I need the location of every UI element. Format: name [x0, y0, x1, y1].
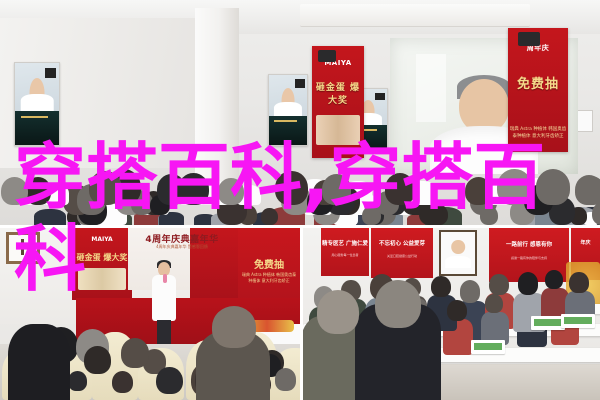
screen-speaker-face — [459, 79, 509, 133]
gift-box — [561, 314, 595, 328]
banner-headline: 砸金蛋 爆大奖 — [312, 80, 364, 106]
banner-free-draw-right: 周年庆 免费抽 瑞典 Astra 种植体 韩国奥齿泰种植体 意大利牙齿矫正 — [508, 28, 568, 152]
banner-headline: 免费抽 — [508, 73, 568, 92]
screen-shelf — [416, 54, 446, 122]
audience-head — [447, 300, 466, 321]
poster-chip — [295, 79, 305, 87]
foreground-attendee — [8, 324, 70, 400]
gift-box — [471, 340, 505, 354]
audience-head — [84, 346, 110, 374]
audience-head — [156, 367, 182, 395]
image-collage: MAIYA 砸金蛋 爆大奖 周年庆 免费抽 瑞典 Astra 种植体 韩国奥齿泰… — [0, 0, 600, 400]
audience-head — [68, 371, 87, 391]
gift-box — [531, 316, 565, 330]
audience-head — [212, 306, 256, 348]
audience-head — [275, 368, 296, 391]
speaker-box — [318, 50, 336, 62]
speaker-box — [518, 32, 540, 46]
poster-coat — [274, 102, 302, 116]
doctor-portrait-poster — [14, 62, 60, 146]
poster-chip — [45, 68, 56, 78]
audience-head — [112, 371, 133, 393]
watermark-text: 穿搭百科,穿搭百科 — [14, 136, 590, 300]
poster-coat — [21, 94, 54, 110]
audience-head — [121, 338, 149, 368]
